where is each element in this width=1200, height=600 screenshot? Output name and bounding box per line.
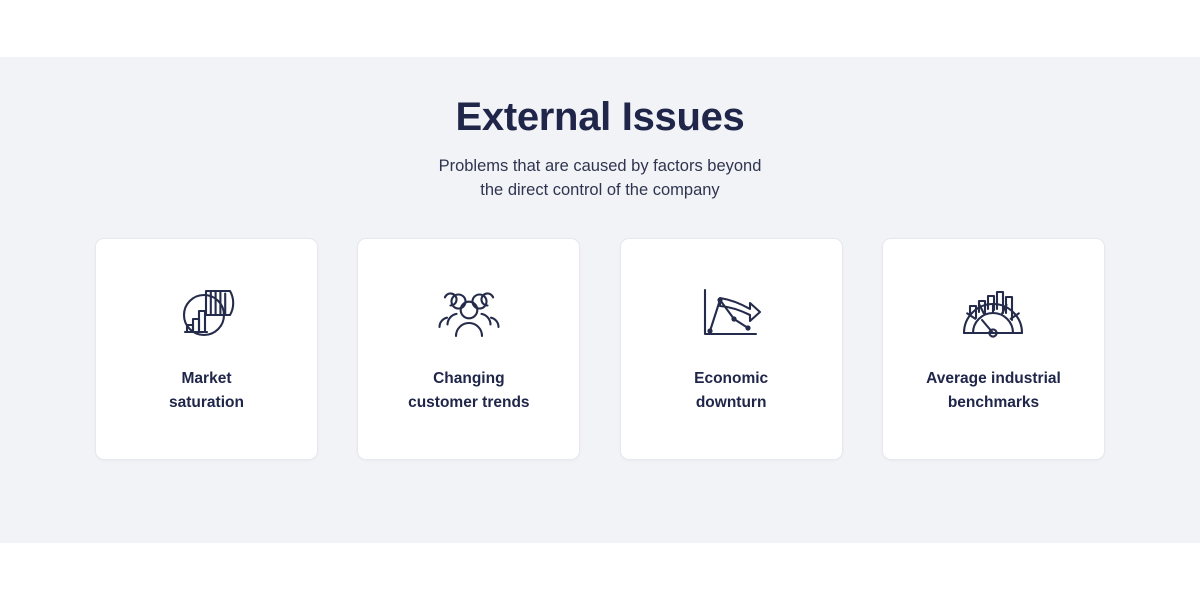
- card-label-line-2: saturation: [169, 391, 244, 415]
- card-label-line-1: Economic: [694, 367, 768, 391]
- card-grid: Market saturation: [95, 238, 1105, 460]
- page-subtitle-line-2: the direct control of the company: [0, 178, 1200, 202]
- card-label-line-1: Changing: [408, 367, 529, 391]
- card-label: Economic downturn: [680, 367, 782, 416]
- card-label-line-2: benchmarks: [926, 391, 1061, 415]
- card-label: Market saturation: [155, 367, 258, 416]
- pie-chart-bars-icon: [171, 283, 243, 345]
- card-market-saturation[interactable]: Market saturation: [95, 238, 318, 460]
- card-label-line-2: customer trends: [408, 391, 529, 415]
- page-title: External Issues: [0, 95, 1200, 140]
- card-label: Changing customer trends: [394, 367, 543, 416]
- card-changing-customer-trends[interactable]: Changing customer trends: [357, 238, 580, 460]
- card-economic-downturn[interactable]: Economic downturn: [620, 238, 843, 460]
- page-subtitle: Problems that are caused by factors beyo…: [0, 154, 1200, 203]
- page-root: External Issues Problems that are caused…: [0, 0, 1200, 600]
- card-average-industrial-benchmarks[interactable]: Average industrial benchmarks: [882, 238, 1105, 460]
- section-header: External Issues Problems that are caused…: [0, 57, 1200, 203]
- card-label-line-1: Market: [169, 367, 244, 391]
- page-subtitle-line-1: Problems that are caused by factors beyo…: [0, 154, 1200, 178]
- external-issues-section: External Issues Problems that are caused…: [0, 57, 1200, 543]
- card-label-line-2: downturn: [694, 391, 768, 415]
- people-group-icon: [433, 283, 505, 345]
- declining-chart-arrow-icon: [695, 283, 767, 345]
- card-label-line-1: Average industrial: [926, 367, 1061, 391]
- card-label: Average industrial benchmarks: [912, 367, 1075, 416]
- gauge-bar-chart-icon: [957, 283, 1029, 345]
